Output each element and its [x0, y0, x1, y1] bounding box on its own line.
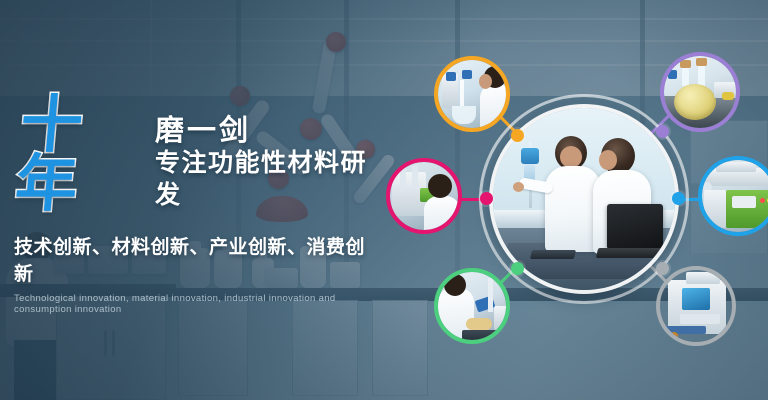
node-green-analyzer[interactable]	[698, 156, 768, 236]
connector-dot-orange	[511, 129, 524, 142]
hub-desk-mat	[530, 250, 576, 259]
node-ring-pink	[386, 158, 462, 234]
hub-researcher-left-hand	[513, 182, 524, 192]
subheadline-chinese: 技术创新、材料创新、产业创新、消费创新	[14, 232, 384, 286]
node-sample-prep[interactable]	[434, 268, 510, 344]
connector-dot-grey	[656, 262, 669, 275]
connector-dot-blue	[672, 192, 685, 205]
headline-brush-text: 十年	[9, 96, 150, 214]
node-ring-purple	[660, 52, 740, 132]
headline-block: 十年 磨一剑 专注功能性材料研发 技术创新、材料创新、产业创新、消费创新 Tec…	[14, 96, 384, 315]
node-glassware-setup[interactable]	[434, 56, 510, 132]
subheadline-english: Technological innovation, material innov…	[14, 293, 384, 315]
headline-tagline-text: 专注功能性材料研发	[155, 148, 384, 211]
hub-stirrer	[521, 148, 539, 164]
node-ring-blue	[698, 156, 768, 236]
hub-laptop-base	[596, 248, 670, 258]
capability-circle-diagram	[398, 30, 768, 370]
connector-dot-green	[511, 262, 524, 275]
promotional-banner: 十年 磨一剑 专注功能性材料研发 技术创新、材料创新、产业创新、消费创新 Tec…	[0, 0, 768, 400]
node-precision-tester[interactable]	[386, 158, 462, 234]
headline-secondary-text: 磨一剑	[155, 115, 384, 148]
headline-stack: 磨一剑 专注功能性材料研发	[155, 115, 384, 214]
connector-dot-purple	[656, 125, 669, 138]
hub-laptop-screen	[607, 204, 663, 248]
hub-researcher-left-face	[560, 146, 582, 168]
node-control-console[interactable]	[656, 266, 736, 346]
connector-dot-pink	[480, 192, 493, 205]
node-ring-grey	[656, 266, 736, 346]
hub-researcher-right-face	[599, 150, 617, 170]
node-reaction-flask[interactable]	[660, 52, 740, 132]
node-ring-orange	[434, 56, 510, 132]
headline-primary-row: 十年 磨一剑 专注功能性材料研发	[14, 96, 384, 214]
node-ring-green	[434, 268, 510, 344]
